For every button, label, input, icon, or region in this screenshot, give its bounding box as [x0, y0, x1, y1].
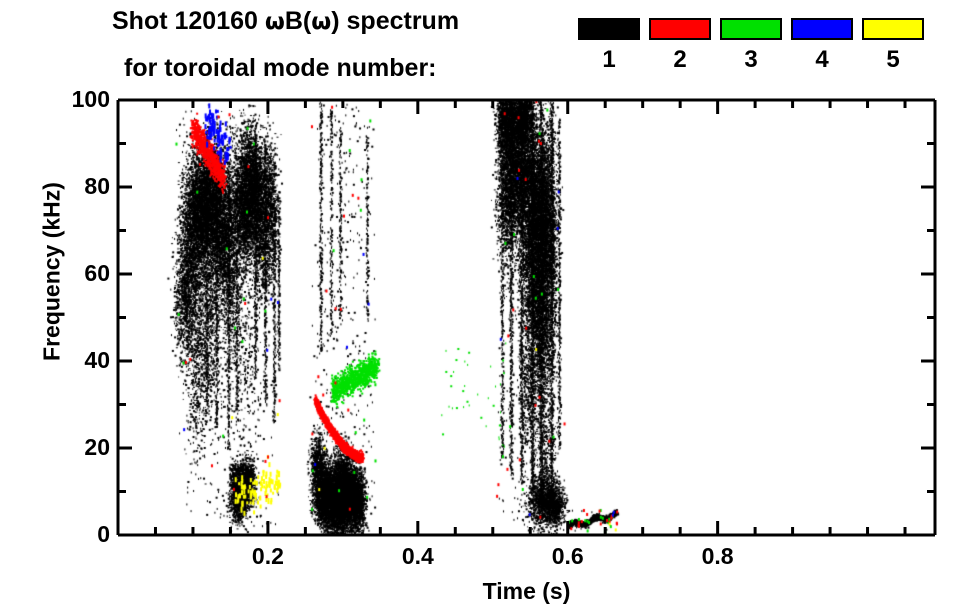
- chart-title-line-1: Shot 120160 ωB(ω) spectrum: [112, 9, 459, 34]
- y-tick-label-0: 0: [50, 523, 110, 546]
- legend-label-n4: 4: [789, 48, 855, 72]
- y-tick-label-100: 100: [50, 88, 110, 111]
- x-tick-label-0.2: 0.2: [233, 545, 303, 568]
- legend-swatch-n2: [649, 18, 711, 40]
- chart-title-line-2: for toroidal mode number:: [124, 56, 437, 81]
- legend-item-n2[interactable]: 2: [647, 14, 715, 90]
- legend-label-n3: 3: [718, 48, 784, 72]
- y-tick-label-40: 40: [50, 349, 110, 372]
- legend-label-n2: 2: [647, 48, 713, 72]
- title-text-post: ) spectrum: [331, 7, 459, 35]
- y-tick-label-80: 80: [50, 175, 110, 198]
- x-tick-label-0.4: 0.4: [383, 545, 453, 568]
- y-tick-labels: 020406080100: [40, 0, 110, 615]
- spectrogram-plot-area: [118, 100, 935, 535]
- legend-swatch-n5: [862, 18, 924, 40]
- x-tick-label-0.8: 0.8: [683, 545, 753, 568]
- x-tick-label-0.6: 0.6: [533, 545, 603, 568]
- legend-item-n1[interactable]: 1: [576, 14, 644, 90]
- legend-label-n1: 1: [576, 48, 642, 72]
- legend-item-n5[interactable]: 5: [860, 14, 928, 90]
- legend-swatch-n4: [791, 18, 853, 40]
- legend-swatch-n3: [720, 18, 782, 40]
- legend-swatch-n1: [578, 18, 640, 40]
- title-text-mid: B(: [285, 7, 311, 35]
- omega-symbol-2: ω: [311, 9, 331, 35]
- legend-item-n4[interactable]: 4: [789, 14, 857, 90]
- y-tick-label-60: 60: [50, 262, 110, 285]
- spectrogram-figure: Shot 120160 ωB(ω) spectrum for toroidal …: [0, 0, 963, 615]
- legend-label-n5: 5: [860, 48, 926, 72]
- mode-number-legend: 12345: [576, 14, 956, 90]
- title-text-pre: Shot 120160: [112, 7, 265, 35]
- omega-symbol-1: ω: [265, 9, 285, 35]
- y-tick-label-20: 20: [50, 436, 110, 459]
- legend-item-n3[interactable]: 3: [718, 14, 786, 90]
- x-axis-label: Time (s): [118, 578, 935, 605]
